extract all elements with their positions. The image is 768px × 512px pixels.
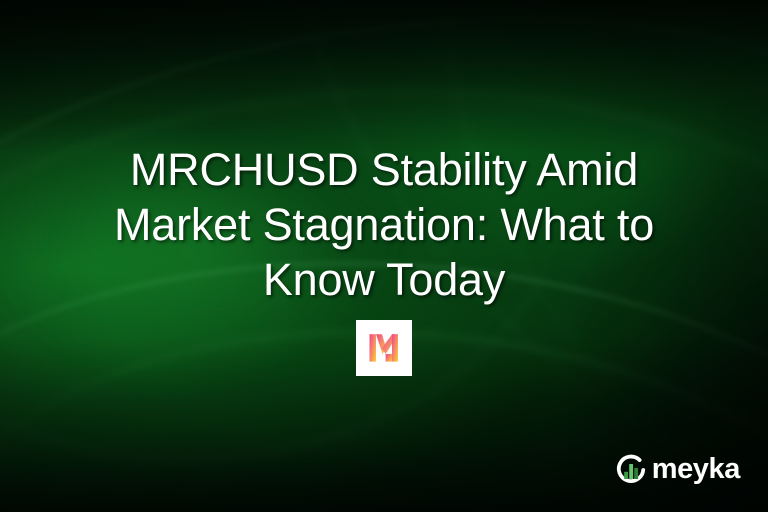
asset-logo-tile [356, 320, 412, 376]
meyka-ring-barchart-icon [613, 452, 649, 488]
mrch-m-logo-icon [367, 332, 401, 364]
brand-name: meyka [652, 455, 740, 486]
social-card: MRCHUSD Stability Amid Market Stagnation… [0, 0, 768, 512]
title-line-2: Market Stagnation: What to [64, 197, 704, 252]
brand-lockup[interactable]: meyka [613, 452, 740, 488]
page-title: MRCHUSD Stability Amid Market Stagnation… [64, 142, 704, 307]
title-line-1: MRCHUSD Stability Amid [64, 142, 704, 197]
title-line-3: Know Today [64, 252, 704, 307]
